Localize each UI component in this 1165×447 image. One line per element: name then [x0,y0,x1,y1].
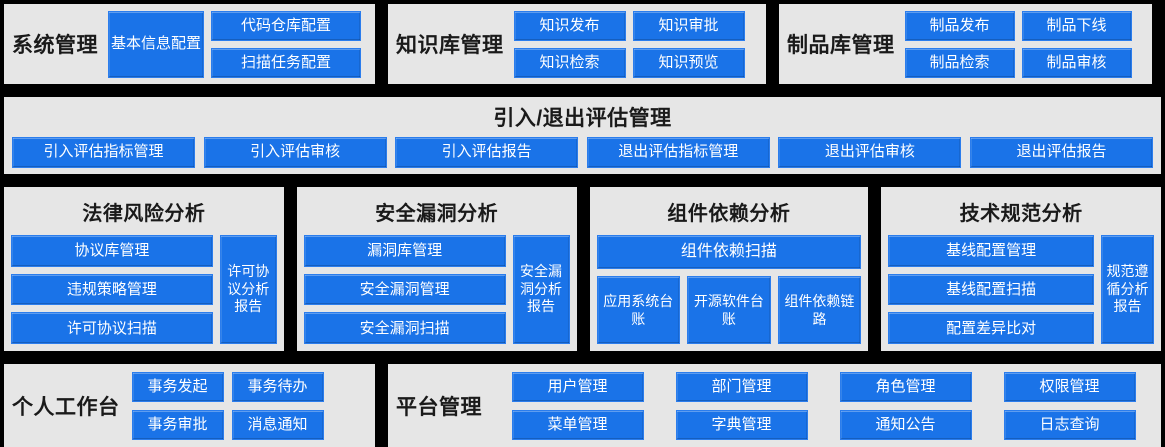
panel-artifact-repository-management: 制品库管理 制品发布 制品检索 制品下线 制品审核 [775,0,1156,88]
button-vulnerability-library-management[interactable]: 漏洞库管理 [304,235,506,267]
button-open-source-software-ledger[interactable]: 开源软件台账 [687,276,771,344]
panel-security-vulnerability-analysis: 安全漏洞分析 漏洞库管理 安全漏洞管理 安全漏洞扫描 安全漏洞分析报告 [293,183,581,355]
button-application-system-ledger[interactable]: 应用系统台账 [597,276,681,344]
button-dictionary-management[interactable]: 字典管理 [676,410,808,440]
button-knowledge-publish[interactable]: 知识发布 [514,11,626,41]
system-management-button-grid: 基本信息配置 代码仓库配置 扫描任务配置 [108,11,361,78]
button-license-agreement-analysis-report[interactable]: 许可协议分析报告 [220,235,277,344]
platform-management-button-grid: 用户管理 菜单管理 部门管理 字典管理 角色管理 通知公告 权限管理 日志查询 [494,372,1153,440]
button-scan-task-config[interactable]: 扫描任务配置 [211,48,361,78]
button-artifact-search[interactable]: 制品检索 [905,48,1015,78]
panel-title-legal-risk-analysis: 法律风险分析 [82,197,205,226]
knowledge-column-2: 知识审批 知识预览 [633,11,745,78]
button-baseline-config-management[interactable]: 基线配置管理 [888,235,1094,267]
button-exit-eval-audit[interactable]: 退出评估审核 [778,137,961,168]
button-intro-eval-audit[interactable]: 引入评估审核 [204,137,387,168]
panel-title-artifact-repository-management: 制品库管理 [787,29,895,59]
button-menu-management[interactable]: 菜单管理 [512,410,644,440]
button-component-dependency-chain[interactable]: 组件依赖链路 [778,276,862,344]
button-artifact-offline[interactable]: 制品下线 [1022,11,1132,41]
button-knowledge-preview[interactable]: 知识预览 [633,48,745,78]
panel-title-personal-workbench: 个人工作台 [12,391,120,421]
button-department-management[interactable]: 部门管理 [676,372,808,402]
panel-personal-workbench: 个人工作台 事务发起 事务审批 事务待办 消息通知 [0,360,379,447]
button-security-vulnerability-analysis-report[interactable]: 安全漏洞分析报告 [513,235,570,344]
button-code-repo-config[interactable]: 代码仓库配置 [211,11,361,41]
platform-column-3: 角色管理 通知公告 [840,372,972,440]
component-dependency-body: 组件依赖扫描 应用系统台账 开源软件台账 组件依赖链路 [597,235,862,344]
button-role-management[interactable]: 角色管理 [840,372,972,402]
panel-title-knowledge-base-management: 知识库管理 [396,29,504,59]
button-knowledge-search[interactable]: 知识检索 [514,48,626,78]
button-notice-announcement[interactable]: 通知公告 [840,410,972,440]
button-component-dependency-scan[interactable]: 组件依赖扫描 [597,235,862,269]
platform-column-1: 用户管理 菜单管理 [512,372,644,440]
diagram-row-1: 系统管理 基本信息配置 代码仓库配置 扫描任务配置 知识库管理 知识发布 知识检… [0,0,1165,88]
panel-introduction-exit-evaluation-management: 引入/退出评估管理 引入评估指标管理 引入评估审核 引入评估报告 退出评估指标管… [0,93,1165,178]
panel-title-component-dependency-analysis: 组件依赖分析 [667,197,790,226]
button-security-vulnerability-management[interactable]: 安全漏洞管理 [304,274,506,306]
panel-title-introduction-exit-evaluation: 引入/退出评估管理 [10,102,1155,132]
workbench-column-1: 事务发起 事务审批 [132,372,224,440]
diagram-row-2: 引入/退出评估管理 引入评估指标管理 引入评估审核 引入评估报告 退出评估指标管… [0,93,1165,178]
personal-workbench-button-grid: 事务发起 事务审批 事务待办 消息通知 [132,372,368,440]
button-artifact-audit[interactable]: 制品审核 [1022,48,1132,78]
security-vulnerability-button-stack: 漏洞库管理 安全漏洞管理 安全漏洞扫描 [304,235,506,344]
panel-legal-risk-analysis: 法律风险分析 协议库管理 违规策略管理 许可协议扫描 许可协议分析报告 [0,183,288,355]
platform-column-2: 部门管理 字典管理 [676,372,808,440]
button-violation-policy-management[interactable]: 违规策略管理 [11,274,213,306]
panel-technical-specification-analysis: 技术规范分析 基线配置管理 基线配置扫描 配置差异比对 规范遵循分析报告 [877,183,1165,355]
technical-specification-button-stack: 基线配置管理 基线配置扫描 配置差异比对 [888,235,1094,344]
panel-title-security-vulnerability-analysis: 安全漏洞分析 [375,197,498,226]
button-exit-eval-report[interactable]: 退出评估报告 [970,137,1153,168]
button-specification-compliance-analysis-report[interactable]: 规范遵循分析报告 [1101,235,1154,344]
functional-architecture-diagram: 系统管理 基本信息配置 代码仓库配置 扫描任务配置 知识库管理 知识发布 知识检… [0,0,1165,447]
button-baseline-config-scan[interactable]: 基线配置扫描 [888,274,1094,306]
component-dependency-button-row: 应用系统台账 开源软件台账 组件依赖链路 [597,276,862,344]
button-intro-eval-metric-management[interactable]: 引入评估指标管理 [12,137,195,168]
security-vulnerability-body: 漏洞库管理 安全漏洞管理 安全漏洞扫描 安全漏洞分析报告 [304,235,570,344]
diagram-row-4: 个人工作台 事务发起 事务审批 事务待办 消息通知 平台管理 用户管理 菜单管理 [0,360,1165,447]
panel-system-management: 系统管理 基本信息配置 代码仓库配置 扫描任务配置 [0,0,379,88]
button-knowledge-approval[interactable]: 知识审批 [633,11,745,41]
button-task-initiate[interactable]: 事务发起 [132,372,224,402]
panel-title-technical-specification-analysis: 技术规范分析 [960,197,1083,226]
button-task-approval[interactable]: 事务审批 [132,410,224,440]
button-intro-eval-report[interactable]: 引入评估报告 [395,137,578,168]
button-config-difference-comparison[interactable]: 配置差异比对 [888,312,1094,344]
button-user-management[interactable]: 用户管理 [512,372,644,402]
evaluation-button-row: 引入评估指标管理 引入评估审核 引入评估报告 退出评估指标管理 退出评估审核 退… [10,137,1155,168]
button-artifact-publish[interactable]: 制品发布 [905,11,1015,41]
button-license-agreement-scan[interactable]: 许可协议扫描 [11,312,213,344]
panel-title-platform-management: 平台管理 [396,391,482,421]
button-permission-management[interactable]: 权限管理 [1004,372,1136,402]
button-log-query[interactable]: 日志查询 [1004,410,1136,440]
platform-column-4: 权限管理 日志查询 [1004,372,1136,440]
legal-risk-body: 协议库管理 违规策略管理 许可协议扫描 许可协议分析报告 [11,235,277,344]
button-agreement-library-management[interactable]: 协议库管理 [11,235,213,267]
technical-specification-body: 基线配置管理 基线配置扫描 配置差异比对 规范遵循分析报告 [888,235,1154,344]
button-basic-info-config[interactable]: 基本信息配置 [108,11,204,78]
artifact-column-1: 制品发布 制品检索 [905,11,1015,78]
button-message-notification[interactable]: 消息通知 [232,410,324,440]
button-exit-eval-metric-management[interactable]: 退出评估指标管理 [587,137,770,168]
workbench-column-2: 事务待办 消息通知 [232,372,324,440]
knowledge-base-button-grid: 知识发布 知识检索 知识审批 知识预览 [514,11,745,78]
diagram-row-3: 法律风险分析 协议库管理 违规策略管理 许可协议扫描 许可协议分析报告 安全漏洞… [0,183,1165,355]
legal-risk-button-stack: 协议库管理 违规策略管理 许可协议扫描 [11,235,213,344]
panel-platform-management: 平台管理 用户管理 菜单管理 部门管理 字典管理 角色管理 通知公告 权限管理 … [384,360,1165,447]
panel-knowledge-base-management: 知识库管理 知识发布 知识检索 知识审批 知识预览 [384,0,770,88]
panel-title-system-management: 系统管理 [12,29,98,59]
button-task-todo[interactable]: 事务待办 [232,372,324,402]
panel-component-dependency-analysis: 组件依赖分析 组件依赖扫描 应用系统台账 开源软件台账 组件依赖链路 [586,183,873,355]
system-management-button-column: 代码仓库配置 扫描任务配置 [211,11,361,78]
button-security-vulnerability-scan[interactable]: 安全漏洞扫描 [304,312,506,344]
artifact-button-grid: 制品发布 制品检索 制品下线 制品审核 [905,11,1132,78]
artifact-column-2: 制品下线 制品审核 [1022,11,1132,78]
knowledge-column-1: 知识发布 知识检索 [514,11,626,78]
